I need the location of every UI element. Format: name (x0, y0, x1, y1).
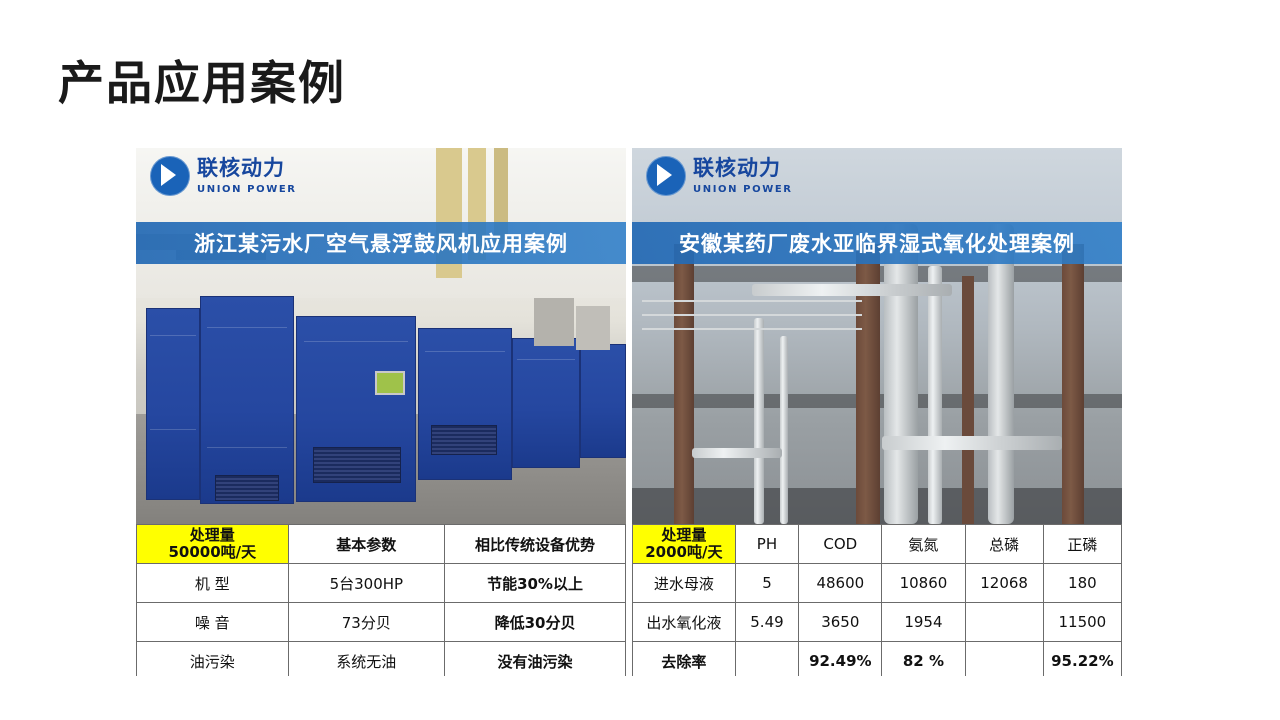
brand-logo: 联核动力 UNION POWER (150, 156, 297, 196)
case-caption-left: 浙江某污水厂空气悬浮鼓风机应用案例 (194, 228, 568, 258)
photo-pipe (692, 448, 782, 458)
slide-root: 产品应用案例 (0, 0, 1280, 720)
page-title: 产品应用案例 (58, 58, 346, 109)
photo-blower-unit (200, 296, 294, 504)
photo-cabinet (534, 298, 574, 346)
photo-column (674, 244, 694, 524)
header-cell-total-p: 总磷 (965, 525, 1043, 564)
header-volume-line2: 50000吨/天 (137, 544, 288, 561)
union-power-logo-icon (646, 156, 686, 196)
row-value: 11500 (1043, 603, 1121, 642)
caption-bar-left: 浙江某污水厂空气悬浮鼓风机应用案例 (136, 222, 626, 264)
row-value (735, 642, 799, 677)
header-cell-ortho-p: 正磷 (1043, 525, 1121, 564)
logo-text-cn: 联核动力 (693, 158, 793, 179)
photo-railing (642, 328, 862, 330)
photo-blower-unit (580, 344, 626, 458)
photo-column (1062, 244, 1084, 524)
row-param: 73分贝 (288, 603, 444, 642)
table-header-row: 处理量 50000吨/天 基本参数 相比传统设备优势 (137, 525, 626, 564)
row-value: 82 % (882, 642, 965, 677)
photo-railing (642, 314, 862, 316)
photo-cabinet (576, 306, 610, 350)
photo-blower-unit (512, 338, 580, 468)
table-row: 油污染 系统无油 没有油污染 (137, 642, 626, 677)
row-param: 5台300HP (288, 564, 444, 603)
logo-band-right: 联核动力 UNION POWER (632, 148, 1122, 210)
header-cell-ph: PH (735, 525, 799, 564)
right-case-table: 处理量 2000吨/天 PH COD 氨氮 总磷 正磷 进水母液 5 48600… (632, 524, 1122, 676)
brand-logo: 联核动力 UNION POWER (646, 156, 793, 196)
header-volume-line1: 处理量 (137, 527, 288, 544)
row-advantage: 节能30%以上 (445, 564, 626, 603)
row-advantage: 降低30分贝 (445, 603, 626, 642)
row-value: 180 (1043, 564, 1121, 603)
union-power-logo-icon (150, 156, 190, 196)
logo-text-cn: 联核动力 (197, 158, 297, 179)
row-value: 95.22% (1043, 642, 1121, 677)
left-case-table: 处理量 50000吨/天 基本参数 相比传统设备优势 机 型 5台300HP 节… (136, 524, 626, 676)
photo-pipe (882, 436, 1062, 450)
photo-blower-unit (296, 316, 416, 502)
photo-pipe (752, 284, 952, 296)
table-row: 去除率 92.49% 82 % 95.22% (633, 642, 1122, 677)
header-cell-volume: 处理量 2000吨/天 (633, 525, 736, 564)
header-volume-line2: 2000吨/天 (633, 544, 735, 561)
row-value (965, 642, 1043, 677)
row-value: 3650 (799, 603, 882, 642)
table-row: 出水氧化液 5.49 3650 1954 11500 (633, 603, 1122, 642)
case-panel-right: 联核动力 UNION POWER 安徽某药厂废水亚临界湿式氧化处理案例 处理量 … (632, 148, 1122, 676)
photo-column (962, 276, 974, 524)
row-value: 48600 (799, 564, 882, 603)
photo-railing (642, 300, 862, 302)
photo-pipe (754, 318, 764, 524)
photo-pipe (780, 336, 788, 524)
table-header-row: 处理量 2000吨/天 PH COD 氨氮 总磷 正磷 (633, 525, 1122, 564)
header-cell-cod: COD (799, 525, 882, 564)
case-caption-right: 安徽某药厂废水亚临界湿式氧化处理案例 (679, 228, 1075, 258)
logo-text-en: UNION POWER (197, 184, 297, 195)
row-value: 5.49 (735, 603, 799, 642)
case-photo-left: 联核动力 UNION POWER 浙江某污水厂空气悬浮鼓风机应用案例 (136, 148, 626, 524)
header-cell-advantage: 相比传统设备优势 (445, 525, 626, 564)
row-param: 系统无油 (288, 642, 444, 677)
header-cell-ammonia: 氨氮 (882, 525, 965, 564)
row-label: 进水母液 (633, 564, 736, 603)
row-label: 油污染 (137, 642, 289, 677)
row-label: 噪 音 (137, 603, 289, 642)
row-label: 机 型 (137, 564, 289, 603)
photo-vessel (988, 224, 1014, 524)
photo-blower-unit (418, 328, 512, 480)
row-value: 1954 (882, 603, 965, 642)
row-label: 去除率 (633, 642, 736, 677)
row-advantage: 没有油污染 (445, 642, 626, 677)
header-cell-param: 基本参数 (288, 525, 444, 564)
case-panel-left: 联核动力 UNION POWER 浙江某污水厂空气悬浮鼓风机应用案例 处理量 5… (136, 148, 626, 676)
table-row: 噪 音 73分贝 降低30分贝 (137, 603, 626, 642)
row-value: 5 (735, 564, 799, 603)
caption-bar-right: 安徽某药厂废水亚临界湿式氧化处理案例 (632, 222, 1122, 264)
row-value: 12068 (965, 564, 1043, 603)
photo-vessel (884, 224, 918, 524)
table-row: 进水母液 5 48600 10860 12068 180 (633, 564, 1122, 603)
table-row: 机 型 5台300HP 节能30%以上 (137, 564, 626, 603)
header-cell-volume: 处理量 50000吨/天 (137, 525, 289, 564)
row-value: 92.49% (799, 642, 882, 677)
row-value (965, 603, 1043, 642)
photo-blower-unit (146, 308, 200, 500)
photo-pipe (928, 266, 942, 524)
row-value: 10860 (882, 564, 965, 603)
header-volume-line1: 处理量 (633, 527, 735, 544)
logo-band-left: 联核动力 UNION POWER (136, 148, 626, 210)
logo-text-en: UNION POWER (693, 184, 793, 195)
row-label: 出水氧化液 (633, 603, 736, 642)
photo-control-screen (375, 371, 405, 395)
case-photo-right: 联核动力 UNION POWER 安徽某药厂废水亚临界湿式氧化处理案例 (632, 148, 1122, 524)
